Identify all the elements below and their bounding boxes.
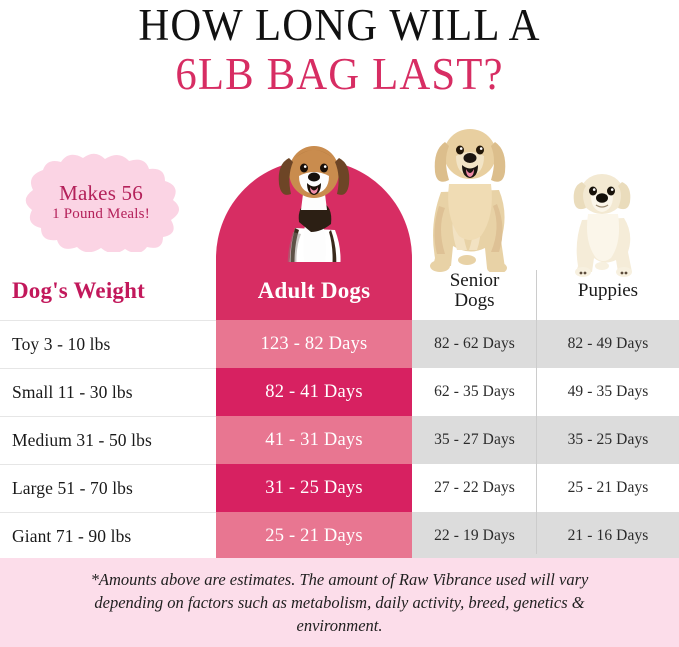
header-puppies: Puppies [537, 262, 679, 320]
header-adult-dogs: Adult Dogs [216, 262, 412, 320]
header-senior-line-1: Senior [450, 271, 500, 291]
cell-puppies: 82 - 49 Days [537, 320, 679, 368]
cell-weight: Small 11 - 30 lbs [0, 368, 216, 416]
cell-senior: 22 - 19 Days [412, 512, 537, 560]
footer-disclaimer-band: *Amounts above are estimates. The amount… [0, 558, 679, 647]
cell-adult: 123 - 82 Days [216, 320, 412, 368]
cell-senior: 35 - 27 Days [412, 416, 537, 464]
golden-retriever-icon [415, 120, 525, 272]
disclaimer-text: *Amounts above are estimates. The amount… [60, 568, 620, 637]
cell-puppies: 21 - 16 Days [537, 512, 679, 560]
cell-adult: 25 - 21 Days [216, 512, 412, 560]
cell-weight: Giant 71 - 90 lbs [0, 512, 216, 560]
table-row: Large 51 - 70 lbs 31 - 25 Days 27 - 22 D… [0, 464, 679, 512]
senior-puppies-divider [536, 270, 537, 554]
cell-adult: 41 - 31 Days [216, 416, 412, 464]
title-line-1: HOW LONG WILL A [17, 2, 662, 48]
cell-senior: 62 - 35 Days [412, 368, 537, 416]
header-senior-dogs: Senior Dogs [412, 262, 537, 320]
title-line-2: 6LB BAG LAST? [17, 48, 662, 100]
page-title: HOW LONG WILL A 6LB BAG LAST? [0, 0, 679, 100]
table-row: Giant 71 - 90 lbs 25 - 21 Days 22 - 19 D… [0, 512, 679, 560]
cell-adult: 31 - 25 Days [216, 464, 412, 512]
cell-adult: 82 - 41 Days [216, 368, 412, 416]
cell-weight: Medium 31 - 50 lbs [0, 416, 216, 464]
feeding-duration-table: Dog's Weight Adult Dogs Senior Dogs Pupp… [0, 262, 679, 560]
cell-puppies: 25 - 21 Days [537, 464, 679, 512]
cell-puppies: 49 - 35 Days [537, 368, 679, 416]
cell-puppies: 35 - 25 Days [537, 416, 679, 464]
table-row: Medium 31 - 50 lbs 41 - 31 Days 35 - 27 … [0, 416, 679, 464]
table-row: Toy 3 - 10 lbs 123 - 82 Days 82 - 62 Day… [0, 320, 679, 368]
cell-senior: 27 - 22 Days [412, 464, 537, 512]
table-row: Small 11 - 30 lbs 82 - 41 Days 62 - 35 D… [0, 368, 679, 416]
cell-weight: Toy 3 - 10 lbs [0, 320, 216, 368]
makes-meals-badge: Makes 56 1 Pound Meals! [13, 152, 189, 252]
table-header-row: Dog's Weight Adult Dogs Senior Dogs Pupp… [0, 262, 679, 320]
cell-weight: Large 51 - 70 lbs [0, 464, 216, 512]
cell-senior: 82 - 62 Days [412, 320, 537, 368]
badge-splat-icon [13, 152, 189, 252]
header-senior-line-2: Dogs [450, 291, 500, 311]
header-dogs-weight: Dog's Weight [0, 262, 216, 320]
senior-dog-image [415, 120, 525, 272]
